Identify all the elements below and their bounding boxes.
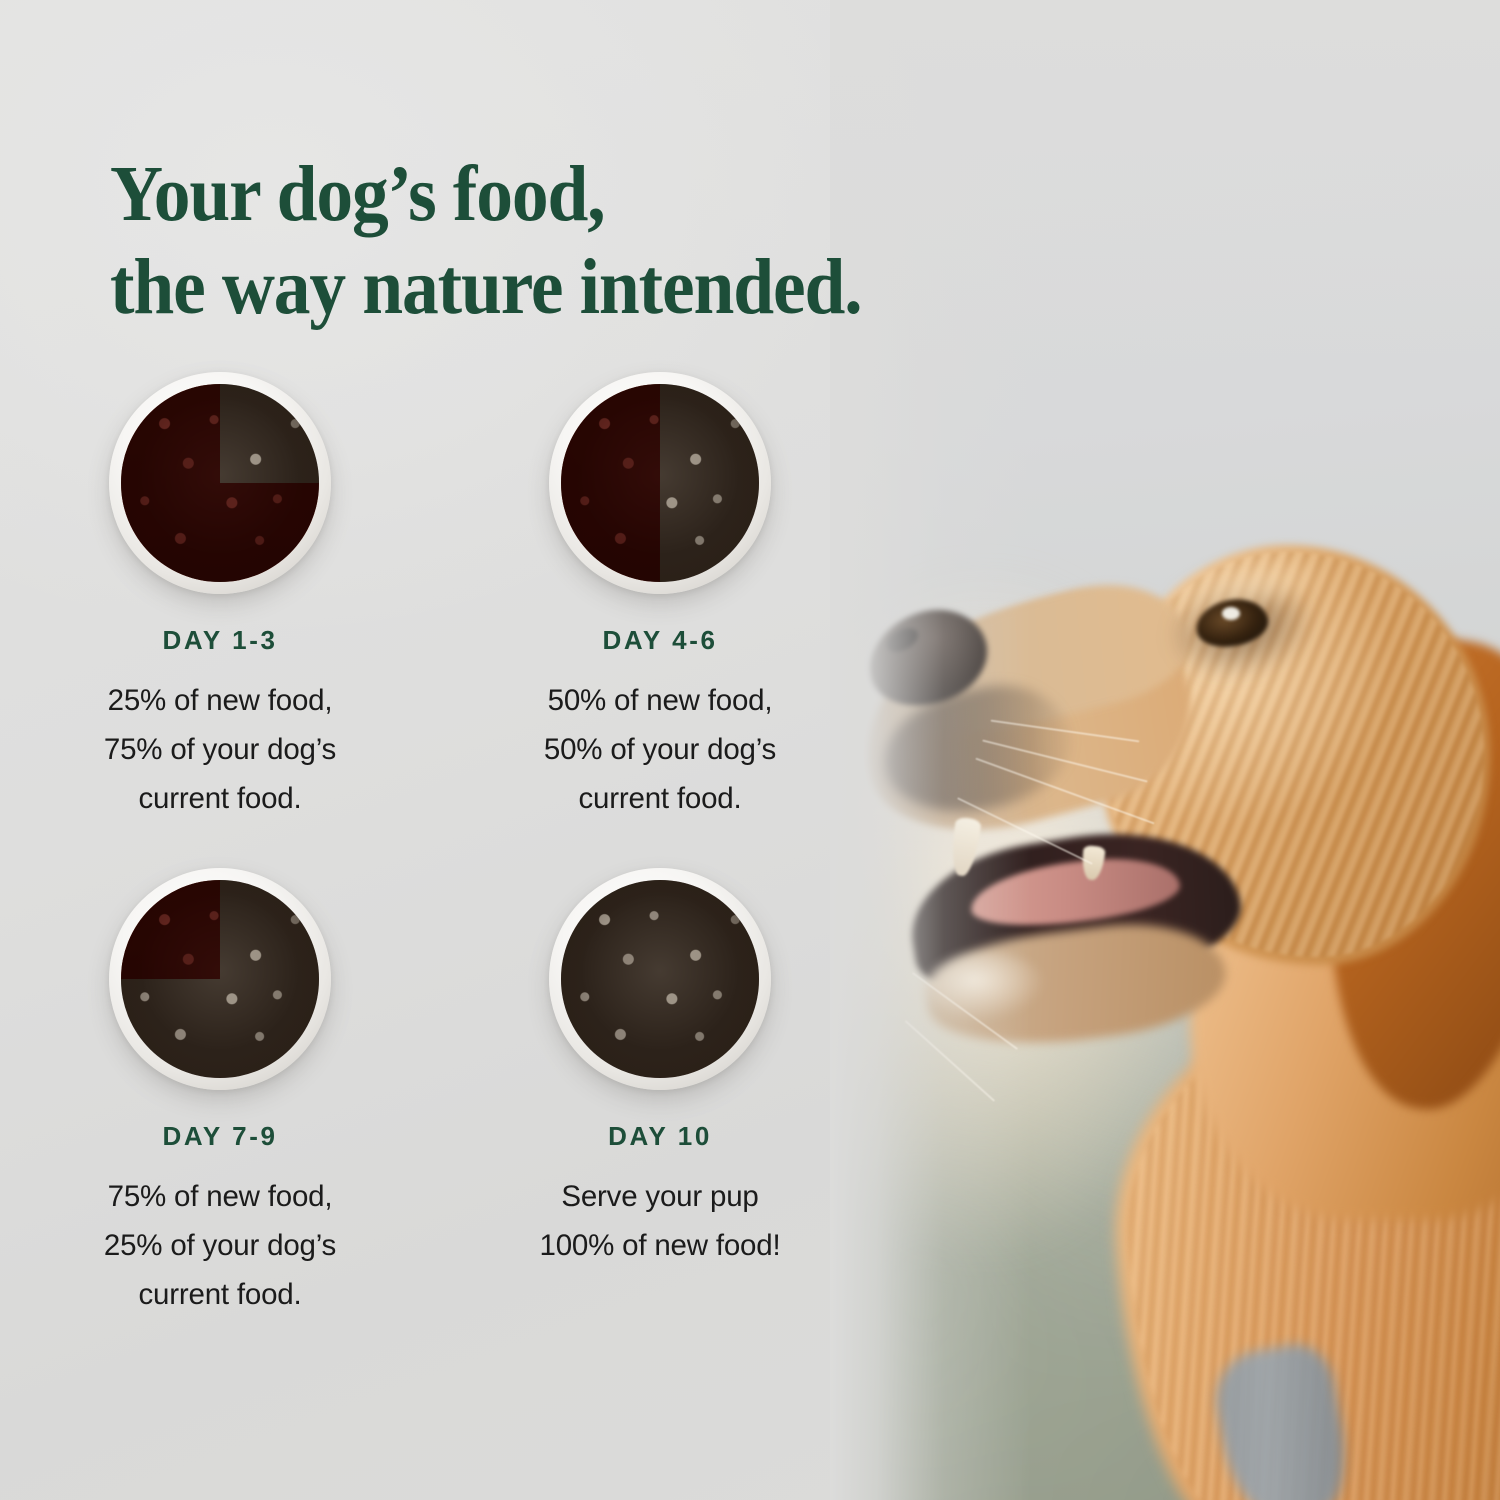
step-description: Serve your pup 100% of new food! xyxy=(440,1172,880,1270)
page-title: Your dog’s food, the way nature intended… xyxy=(110,148,862,334)
photo-top-fade xyxy=(830,0,1500,360)
step-card-day-4-6: DAY 4-6 50% of new food, 50% of your dog… xyxy=(440,372,880,823)
step-day-label: DAY 1-3 xyxy=(0,625,440,656)
step-card-day-7-9: DAY 7-9 75% of new food, 25% of your dog… xyxy=(0,868,440,1319)
step-card-day-10: DAY 10 Serve your pup 100% of new food! xyxy=(440,868,880,1319)
promo-graphic: Your dog’s food, the way nature intended… xyxy=(0,0,1500,1500)
step-description: 25% of new food, 75% of your dog’s curre… xyxy=(0,676,440,823)
feeding-transition-steps: DAY 1-3 25% of new food, 75% of your dog… xyxy=(0,372,880,1319)
bowl-contents xyxy=(561,880,759,1078)
steps-row-2: DAY 7-9 75% of new food, 25% of your dog… xyxy=(0,868,880,1319)
steps-row-1: DAY 1-3 25% of new food, 75% of your dog… xyxy=(0,372,880,823)
step-description: 75% of new food, 25% of your dog’s curre… xyxy=(0,1172,440,1319)
bowl-day-7-9 xyxy=(109,868,331,1090)
step-card-day-1-3: DAY 1-3 25% of new food, 75% of your dog… xyxy=(0,372,440,823)
dog-photo xyxy=(830,0,1500,1500)
bowl-contents xyxy=(121,384,319,582)
bowl-contents xyxy=(121,880,319,1078)
bowl-contents xyxy=(561,384,759,582)
step-description: 50% of new food, 50% of your dog’s curre… xyxy=(440,676,880,823)
bowl-day-10 xyxy=(549,868,771,1090)
bowl-day-4-6 xyxy=(549,372,771,594)
step-day-label: DAY 4-6 xyxy=(440,625,880,656)
step-day-label: DAY 7-9 xyxy=(0,1121,440,1152)
step-day-label: DAY 10 xyxy=(440,1121,880,1152)
bowl-inner-shadow xyxy=(561,880,759,1078)
bowl-day-1-3 xyxy=(109,372,331,594)
